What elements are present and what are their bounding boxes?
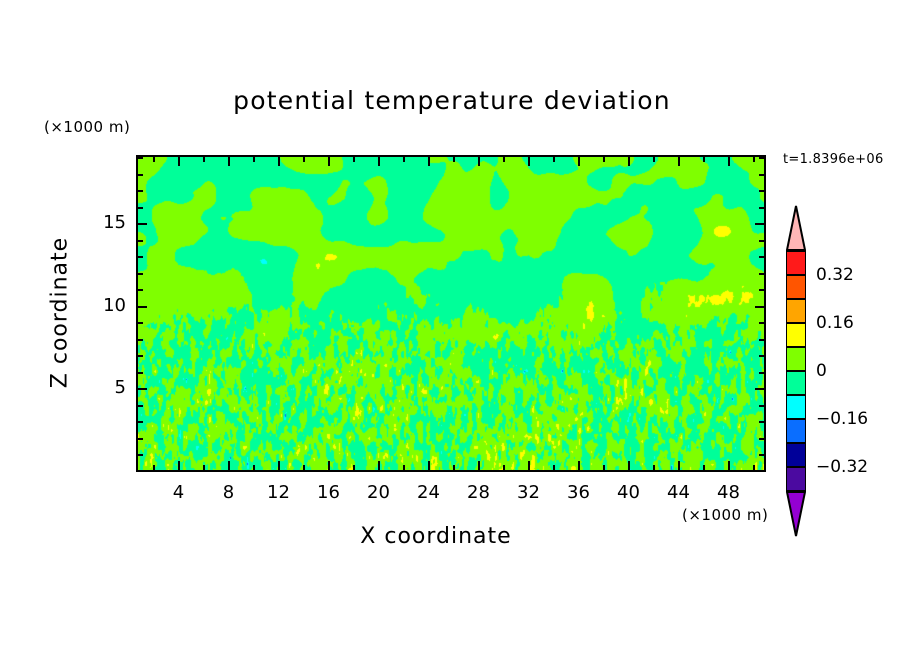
x-minor-tick: [553, 157, 555, 162]
y-minor-tick: [138, 372, 143, 374]
x-minor-tick: [703, 157, 705, 162]
y-tick-label: 15: [66, 212, 126, 233]
y-minor-tick: [138, 421, 143, 423]
colorbar-band: [786, 371, 806, 395]
y-tick-label: 10: [66, 295, 126, 316]
y-minor-tick: [138, 190, 143, 192]
y-minor-tick: [138, 405, 143, 407]
x-tick-mark: [328, 157, 330, 166]
colorbar-label: −0.32: [816, 457, 868, 477]
x-tick-mark: [528, 461, 530, 470]
x-tick-mark: [728, 461, 730, 470]
x-minor-tick: [553, 465, 555, 470]
y-minor-tick: [759, 355, 764, 357]
x-axis-units: (×1000 m): [682, 506, 768, 524]
colorbar-over-arrow: [786, 205, 806, 251]
x-tick-mark: [228, 461, 230, 470]
colorbar-band: [786, 467, 806, 491]
y-minor-tick: [138, 438, 143, 440]
y-minor-tick: [138, 174, 143, 176]
y-minor-tick: [138, 207, 143, 209]
y-minor-tick: [138, 289, 143, 291]
x-minor-tick: [403, 157, 405, 162]
x-minor-tick: [603, 157, 605, 162]
y-minor-tick: [759, 289, 764, 291]
x-axis-label: X coordinate: [236, 524, 636, 549]
y-minor-tick: [138, 256, 143, 258]
y-minor-tick: [759, 207, 764, 209]
colorbar-label: 0.32: [816, 265, 854, 285]
colorbar-band: [786, 443, 806, 467]
colorbar-band: [786, 419, 806, 443]
y-axis-units: (×1000 m): [44, 118, 130, 136]
x-tick-mark: [178, 157, 180, 166]
x-minor-tick: [403, 465, 405, 470]
x-tick-mark: [278, 157, 280, 166]
colorbar-under-arrow: [786, 491, 806, 537]
x-minor-tick: [303, 157, 305, 162]
y-minor-tick: [759, 421, 764, 423]
x-minor-tick: [303, 465, 305, 470]
y-tick-mark: [138, 223, 147, 225]
y-minor-tick: [138, 240, 143, 242]
y-minor-tick: [759, 190, 764, 192]
y-minor-tick: [759, 273, 764, 275]
colorbar: 0.320.160−0.16−0.32: [786, 205, 806, 505]
x-tick-mark: [228, 157, 230, 166]
x-minor-tick: [653, 157, 655, 162]
colorbar-band: [786, 275, 806, 299]
x-tick-mark: [528, 157, 530, 166]
x-tick-mark: [628, 461, 630, 470]
x-tick-mark: [478, 157, 480, 166]
y-minor-tick: [759, 372, 764, 374]
contour-plot-area: [136, 155, 766, 472]
y-minor-tick: [138, 355, 143, 357]
x-minor-tick: [703, 465, 705, 470]
x-tick-mark: [678, 157, 680, 166]
colorbar-band: [786, 323, 806, 347]
y-minor-tick: [759, 157, 764, 159]
y-minor-tick: [759, 322, 764, 324]
y-tick-mark: [755, 306, 764, 308]
x-minor-tick: [453, 157, 455, 162]
y-minor-tick: [759, 454, 764, 456]
x-tick-mark: [578, 461, 580, 470]
x-tick-mark: [578, 157, 580, 166]
y-minor-tick: [138, 454, 143, 456]
y-tick-label: 5: [66, 377, 126, 398]
x-minor-tick: [203, 157, 205, 162]
y-minor-tick: [759, 174, 764, 176]
x-tick-mark: [178, 461, 180, 470]
x-tick-mark: [428, 461, 430, 470]
colorbar-band: [786, 347, 806, 371]
colorbar-band: [786, 251, 806, 275]
y-tick-mark: [755, 388, 764, 390]
y-minor-tick: [759, 438, 764, 440]
y-tick-mark: [138, 306, 147, 308]
x-minor-tick: [753, 465, 755, 470]
colorbar-label: 0.16: [816, 313, 854, 333]
y-minor-tick: [759, 405, 764, 407]
y-minor-tick: [138, 322, 143, 324]
x-tick-mark: [728, 157, 730, 166]
x-tick-label: 48: [699, 482, 759, 503]
chart-title: potential temperature deviation: [0, 86, 904, 115]
x-tick-mark: [378, 461, 380, 470]
x-tick-mark: [678, 461, 680, 470]
y-minor-tick: [759, 339, 764, 341]
x-minor-tick: [153, 157, 155, 162]
x-minor-tick: [203, 465, 205, 470]
x-minor-tick: [353, 157, 355, 162]
x-tick-mark: [378, 157, 380, 166]
x-tick-mark: [278, 461, 280, 470]
x-minor-tick: [253, 465, 255, 470]
y-minor-tick: [138, 339, 143, 341]
x-minor-tick: [353, 465, 355, 470]
x-tick-mark: [328, 461, 330, 470]
y-minor-tick: [138, 273, 143, 275]
x-minor-tick: [503, 465, 505, 470]
x-minor-tick: [253, 157, 255, 162]
x-minor-tick: [503, 157, 505, 162]
x-minor-tick: [153, 465, 155, 470]
y-minor-tick: [138, 157, 143, 159]
colorbar-label: 0: [816, 361, 827, 381]
x-minor-tick: [453, 465, 455, 470]
colorbar-band: [786, 395, 806, 419]
temperature-deviation-field: [138, 157, 766, 472]
colorbar-label: −0.16: [816, 409, 868, 429]
x-tick-mark: [428, 157, 430, 166]
x-minor-tick: [603, 465, 605, 470]
y-minor-tick: [759, 240, 764, 242]
y-tick-mark: [755, 223, 764, 225]
x-minor-tick: [753, 157, 755, 162]
timestamp-annotation: t=1.8396e+06: [783, 152, 884, 167]
colorbar-band: [786, 299, 806, 323]
y-tick-mark: [138, 388, 147, 390]
x-tick-mark: [478, 461, 480, 470]
x-tick-mark: [628, 157, 630, 166]
y-minor-tick: [759, 256, 764, 258]
x-minor-tick: [653, 465, 655, 470]
